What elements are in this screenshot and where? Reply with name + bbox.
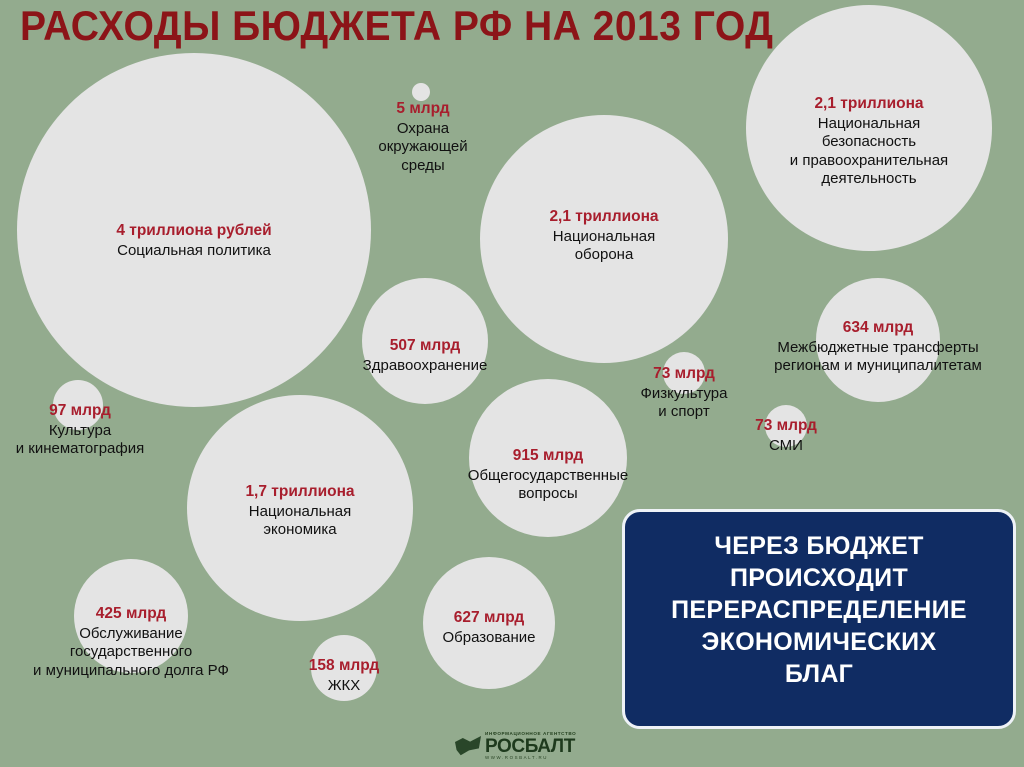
rosbalt-logo[interactable]: ИНФОРМАЦИОННОЕ АГЕНТСТВО РОСБАЛТ WWW.ROS… bbox=[455, 729, 595, 763]
label-debt-service: 425 млрдОбслуживание государственного и … bbox=[1, 605, 261, 680]
label-environment: 5 млрдОхрана окружающей среды bbox=[343, 100, 503, 175]
name-education: Образование bbox=[389, 629, 589, 647]
amount-social-policy: 4 триллиона рублей bbox=[34, 222, 354, 242]
amount-interbudget-transfers: 634 млрд bbox=[728, 319, 1024, 339]
name-mass-media: СМИ bbox=[726, 437, 846, 455]
amount-national-defence: 2,1 триллиона bbox=[484, 208, 724, 228]
label-national-security: 2,1 триллионаНациональная безопасность и… bbox=[739, 95, 999, 188]
amount-debt-service: 425 млрд bbox=[1, 605, 261, 625]
amount-sport: 73 млрд bbox=[599, 365, 769, 385]
label-social-policy: 4 триллиона рублейСоциальная политика bbox=[34, 222, 354, 260]
name-interbudget-transfers: Межбюджетные трансферты регионам и муниц… bbox=[728, 339, 1024, 376]
page-title: РАСХОДЫ БЮДЖЕТА РФ НА 2013 ГОД bbox=[20, 2, 690, 50]
amount-culture: 97 млрд bbox=[0, 402, 175, 422]
amount-national-economy: 1,7 триллиона bbox=[185, 483, 415, 503]
label-culture: 97 млрдКультура и кинематография bbox=[0, 402, 175, 459]
name-culture: Культура и кинематография bbox=[0, 422, 175, 459]
label-mass-media: 73 млрдСМИ bbox=[726, 417, 846, 455]
name-national-security: Национальная безопасность и правоохранит… bbox=[739, 115, 999, 188]
name-sport: Физкультура и спорт bbox=[599, 385, 769, 422]
amount-healthcare: 507 млрд bbox=[320, 337, 530, 357]
name-national-defence: Национальная оборона bbox=[484, 228, 724, 265]
rosbalt-bird-icon bbox=[455, 736, 481, 756]
label-housing-utilities: 158 млрдЖКХ bbox=[269, 657, 419, 695]
name-housing-utilities: ЖКХ bbox=[269, 677, 419, 695]
callout-box: ЧЕРЕЗ БЮДЖЕТ ПРОИСХОДИТ ПЕРЕРАСПРЕДЕЛЕНИ… bbox=[622, 509, 1016, 729]
name-environment: Охрана окружающей среды bbox=[343, 120, 503, 175]
rosbalt-wordmark: ИНФОРМАЦИОННОЕ АГЕНТСТВО РОСБАЛТ WWW.ROS… bbox=[485, 732, 576, 760]
amount-education: 627 млрд bbox=[389, 609, 589, 629]
label-national-economy: 1,7 триллионаНациональная экономика bbox=[185, 483, 415, 540]
name-debt-service: Обслуживание государственного и муниципа… bbox=[1, 625, 261, 680]
amount-state-affairs: 915 млрд bbox=[423, 447, 673, 467]
label-sport: 73 млрдФизкультура и спорт bbox=[599, 365, 769, 422]
label-state-affairs: 915 млрдОбщегосударственные вопросы bbox=[423, 447, 673, 504]
name-healthcare: Здравоохранение bbox=[320, 357, 530, 375]
bubble-environment[interactable] bbox=[412, 83, 430, 101]
label-education: 627 млрдОбразование bbox=[389, 609, 589, 647]
amount-mass-media: 73 млрд bbox=[726, 417, 846, 437]
amount-national-security: 2,1 триллиона bbox=[739, 95, 999, 115]
name-state-affairs: Общегосударственные вопросы bbox=[423, 467, 673, 504]
label-interbudget-transfers: 634 млрдМежбюджетные трансферты регионам… bbox=[728, 319, 1024, 376]
amount-housing-utilities: 158 млрд bbox=[269, 657, 419, 677]
name-social-policy: Социальная политика bbox=[34, 242, 354, 260]
logo-bottom-line: WWW.ROSBALT.RU bbox=[485, 756, 576, 760]
logo-name: РОСБАЛТ bbox=[485, 737, 576, 756]
amount-environment: 5 млрд bbox=[343, 100, 503, 120]
label-healthcare: 507 млрдЗдравоохранение bbox=[320, 337, 530, 375]
label-national-defence: 2,1 триллионаНациональная оборона bbox=[484, 208, 724, 265]
infographic-canvas: 4 триллиона рублейСоциальная политика5 м… bbox=[0, 0, 1024, 767]
name-national-economy: Национальная экономика bbox=[185, 503, 415, 540]
